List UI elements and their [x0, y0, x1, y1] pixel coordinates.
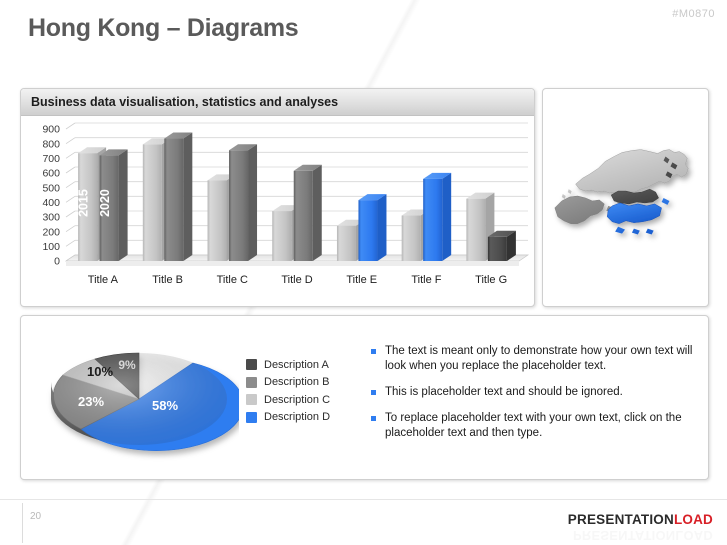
y-tick-label: 100	[42, 241, 60, 253]
content-panel: 58% 23% 10% 9% Description ADescription …	[20, 315, 709, 480]
y-tick-label: 800	[42, 138, 60, 150]
x-tick-label: Title B	[152, 274, 183, 286]
y-tick-label: 0	[54, 256, 60, 268]
legend-item-description-d[interactable]: Description D	[246, 409, 361, 427]
brand-logo-part2: LOAD	[674, 512, 713, 527]
template-reference-code: #M0870	[672, 8, 715, 20]
x-tick-label: Title C	[217, 274, 248, 286]
watermark-footer: PRESENTATIONLOAD	[573, 528, 713, 543]
bar-title-e-2020[interactable]	[358, 194, 386, 261]
chart-panel: Business data visualisation, statistics …	[20, 88, 535, 307]
bullet-list: The text is meant only to demonstrate ho…	[371, 344, 696, 452]
brand-logo-part1: PRESENTATION	[568, 512, 674, 527]
bar-title-c-2020[interactable]	[229, 144, 257, 261]
footer-tick-mark	[22, 503, 23, 543]
pie-label-description-b: 23%	[78, 394, 104, 409]
bar-title-d-2020[interactable]	[294, 165, 322, 261]
x-tick-label: Title F	[411, 274, 441, 286]
pie-chart: 58% 23% 10% 9%	[39, 334, 239, 464]
legend-label: Description C	[264, 394, 330, 406]
legend-item-description-a[interactable]: Description A	[246, 356, 361, 374]
map-panel	[542, 88, 709, 307]
page-number: 20	[30, 511, 41, 522]
y-tick-label: 900	[42, 124, 60, 136]
map-region-new-territories[interactable]	[576, 150, 689, 194]
page-title: Hong Kong – Diagrams	[28, 14, 298, 43]
chart-y-axis-labels: 0100200300400500600700800900	[42, 124, 60, 268]
y-tick-label: 200	[42, 226, 60, 238]
legend-item-description-b[interactable]: Description B	[246, 374, 361, 392]
legend-swatch-icon	[246, 394, 257, 405]
chart-panel-header: Business data visualisation, statistics …	[21, 89, 534, 116]
bullet-text: The text is meant only to demonstrate ho…	[385, 344, 696, 374]
legend-label: Description B	[264, 376, 329, 388]
map-region-hong-kong-island[interactable]	[607, 203, 661, 224]
bullet-square-icon	[371, 416, 376, 421]
chart-bars: 20152020	[77, 133, 516, 261]
pie-legend: Description ADescription BDescription CD…	[246, 356, 361, 426]
bar-title-g-2020[interactable]	[488, 231, 516, 261]
bullet-square-icon	[371, 349, 376, 354]
pie-label-description-d: 58%	[152, 398, 178, 413]
pie-label-description-a: 9%	[118, 358, 136, 372]
y-tick-label: 300	[42, 212, 60, 224]
y-tick-label: 500	[42, 182, 60, 194]
pie-chart-wrapper: 58% 23% 10% 9%	[39, 334, 239, 464]
bullet-text: To replace placeholder text with your ow…	[385, 411, 696, 441]
slide-canvas: Hong Kong – Diagrams #M0870 Business dat…	[0, 0, 727, 545]
bar-title-f-2020[interactable]	[423, 173, 451, 261]
y-tick-label: 700	[42, 153, 60, 165]
y-tick-label: 400	[42, 197, 60, 209]
bar-series-label-2020: 2020	[98, 189, 112, 217]
legend-swatch-icon	[246, 412, 257, 423]
bullet-text: This is placeholder text and should be i…	[385, 385, 623, 400]
bullet-item[interactable]: To replace placeholder text with your ow…	[371, 411, 696, 441]
legend-swatch-icon	[246, 377, 257, 388]
chart-x-axis-labels: Title ATitle BTitle CTitle DTitle ETitle…	[88, 274, 507, 286]
legend-item-description-c[interactable]: Description C	[246, 391, 361, 409]
footer-divider	[0, 499, 727, 500]
brand-logo: PRESENTATIONLOAD	[568, 512, 713, 527]
map-region-lantau-island[interactable]	[555, 196, 604, 224]
x-tick-label: Title E	[346, 274, 377, 286]
bar-title-b-2020[interactable]	[164, 133, 192, 261]
bullet-item[interactable]: This is placeholder text and should be i…	[371, 385, 696, 400]
legend-swatch-icon	[246, 359, 257, 370]
y-tick-label: 600	[42, 168, 60, 180]
x-tick-label: Title D	[281, 274, 312, 286]
legend-label: Description D	[264, 411, 330, 423]
bar-series-label-2015: 2015	[77, 189, 91, 217]
bullet-square-icon	[371, 390, 376, 395]
x-tick-label: Title A	[88, 274, 119, 286]
bullet-item[interactable]: The text is meant only to demonstrate ho…	[371, 344, 696, 374]
legend-label: Description A	[264, 359, 329, 371]
pie-label-description-c: 10%	[87, 364, 113, 379]
x-tick-label: Title G	[475, 274, 507, 286]
bar-chart: 0100200300400500600700800900 20152020 Ti…	[21, 116, 534, 306]
hong-kong-map[interactable]	[543, 89, 708, 306]
